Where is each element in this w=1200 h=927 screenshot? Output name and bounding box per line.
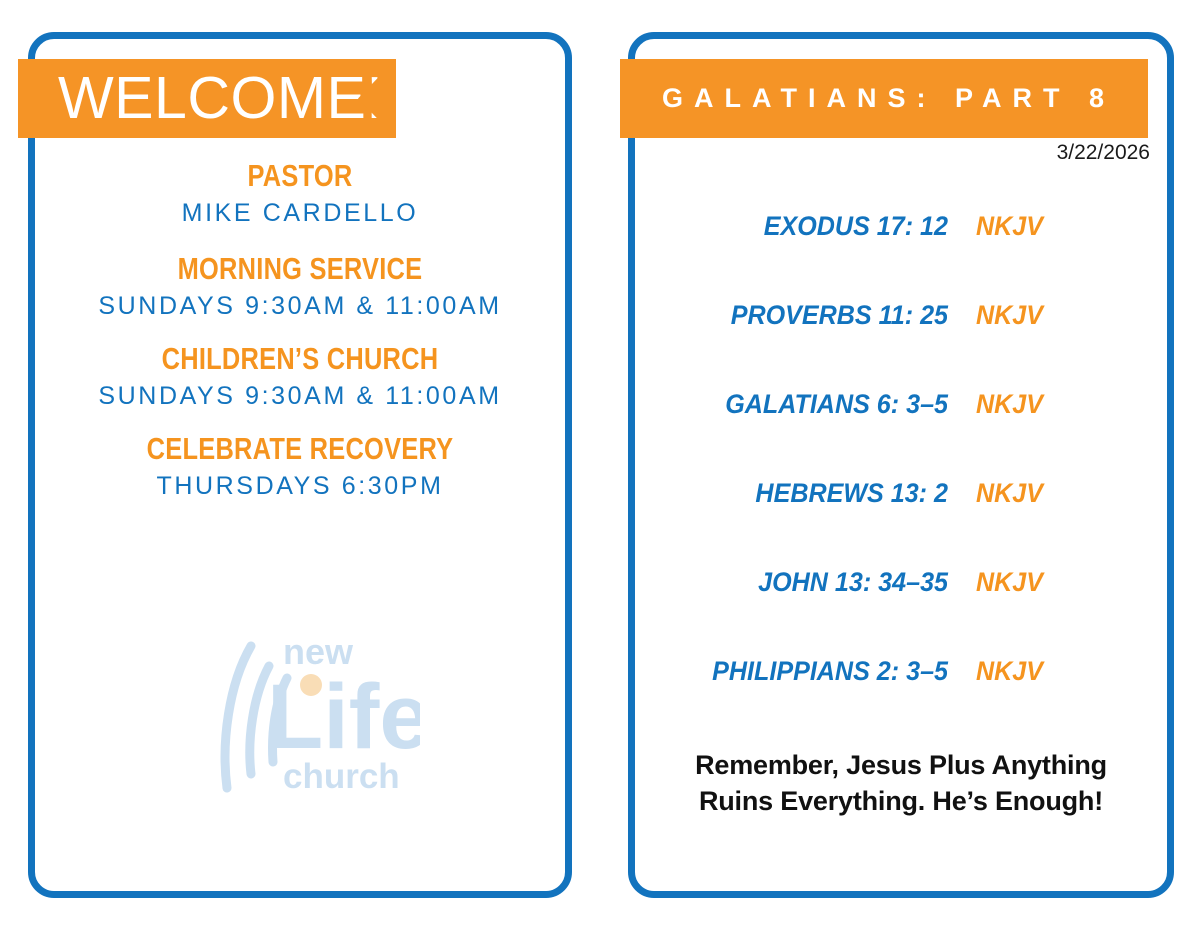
service-detail: SUNDAYS 9:30AM & 11:00AM: [28, 293, 572, 321]
logo-text-life: Life: [267, 666, 420, 768]
scripture-reference-list: EXODUS 17: 12 NKJV PROVERBS 11: 25 NKJV …: [636, 211, 1166, 745]
sermon-date: 3/22/2026: [1057, 141, 1150, 165]
series-banner-label: GALATIANS: PART 8: [620, 85, 1115, 112]
welcome-banner-label: WELCOME!: [18, 69, 383, 128]
scripture-version: NKJV: [976, 389, 1043, 420]
scripture-reference: PHILIPPIANS 2: 3–5: [658, 656, 948, 687]
scripture-version: NKJV: [976, 567, 1043, 598]
closing-message-line1: Remember, Jesus Plus Anything: [636, 748, 1166, 784]
service-item-childrens-church: CHILDREN’S CHURCH SUNDAYS 9:30AM & 11:00…: [28, 343, 572, 410]
service-title: PASTOR: [77, 160, 523, 193]
service-item-celebrate-recovery: CELEBRATE RECOVERY THURSDAYS 6:30PM: [28, 433, 572, 500]
service-detail: MIKE CARDELLO: [28, 200, 572, 228]
closing-message-line2: Ruins Everything. He’s Enough!: [636, 784, 1166, 820]
logo-artwork: new Life church: [205, 622, 420, 797]
scripture-reference: PROVERBS 11: 25: [658, 300, 948, 331]
scripture-row: PHILIPPIANS 2: 3–5 NKJV: [636, 656, 1166, 745]
scripture-version: NKJV: [976, 211, 1043, 242]
scripture-version: NKJV: [976, 656, 1043, 687]
scripture-row: HEBREWS 13: 2 NKJV: [636, 478, 1166, 567]
logo-dot-icon: [300, 674, 322, 696]
scripture-version: NKJV: [976, 300, 1043, 331]
scripture-reference: EXODUS 17: 12: [658, 211, 948, 242]
service-item-pastor: PASTOR MIKE CARDELLO: [28, 160, 572, 227]
service-title: CHILDREN’S CHURCH: [77, 343, 523, 376]
service-detail: SUNDAYS 9:30AM & 11:00AM: [28, 383, 572, 411]
series-banner: GALATIANS: PART 8: [620, 59, 1148, 138]
scripture-row: GALATIANS 6: 3–5 NKJV: [636, 389, 1166, 478]
logo-text-church: church: [283, 757, 400, 796]
service-info-list: PASTOR MIKE CARDELLO MORNING SERVICE SUN…: [28, 160, 572, 523]
scripture-row: PROVERBS 11: 25 NKJV: [636, 300, 1166, 389]
service-detail: THURSDAYS 6:30PM: [28, 473, 572, 501]
new-life-church-logo: new Life church: [205, 622, 420, 797]
scripture-reference: GALATIANS 6: 3–5: [658, 389, 948, 420]
service-item-morning-service: MORNING SERVICE SUNDAYS 9:30AM & 11:00AM: [28, 253, 572, 320]
closing-message: Remember, Jesus Plus Anything Ruins Ever…: [636, 748, 1166, 820]
slide-canvas: WELCOME! PASTOR MIKE CARDELLO MORNING SE…: [0, 0, 1200, 927]
scripture-version: NKJV: [976, 478, 1043, 509]
scripture-row: JOHN 13: 34–35 NKJV: [636, 567, 1166, 656]
welcome-banner: WELCOME!: [18, 59, 396, 138]
service-title: CELEBRATE RECOVERY: [77, 433, 523, 466]
scripture-row: EXODUS 17: 12 NKJV: [636, 211, 1166, 300]
service-title: MORNING SERVICE: [77, 253, 523, 286]
scripture-reference: HEBREWS 13: 2: [658, 478, 948, 509]
scripture-reference: JOHN 13: 34–35: [658, 567, 948, 598]
